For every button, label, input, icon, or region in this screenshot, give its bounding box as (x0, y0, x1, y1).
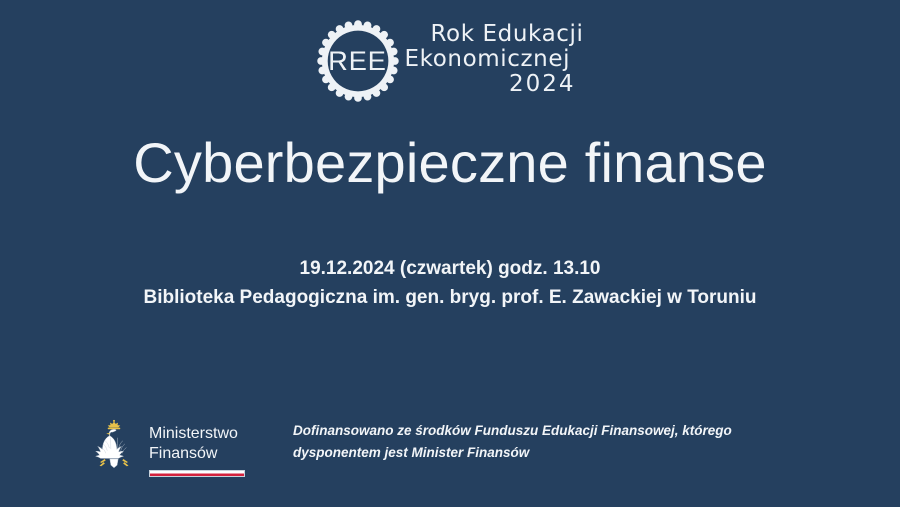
event-details: 19.12.2024 (czwartek) godz. 13.10 Biblio… (0, 255, 900, 312)
ministry-name-line-2: Finansów (149, 444, 245, 464)
event-datetime: 19.12.2024 (czwartek) godz. 13.10 (0, 255, 900, 284)
campaign-logo-inner: REE Rok Edukacji Ekonomicznej 2024 (317, 18, 584, 102)
slide-footer: Ministerstwo Finansów Dofinansowano ze ś… (88, 414, 860, 477)
campaign-logo-line-1: Rok Edukacji (405, 23, 584, 47)
gear-icon: REE (317, 20, 399, 102)
ministry-of-finance-logo: Ministerstwo Finansów (88, 414, 245, 477)
campaign-logo-text: Rok Edukacji Ekonomicznej 2024 (405, 18, 584, 97)
presentation-slide: REE Rok Edukacji Ekonomicznej 2024 Cyber… (0, 0, 900, 507)
ministry-of-finance-wordmark: Ministerstwo Finansów (149, 418, 245, 477)
funding-note-line-2: dysponentem jest Minister Finansów (293, 442, 732, 464)
funding-note-line-1: Dofinansowano ze środków Funduszu Edukac… (293, 420, 732, 442)
funding-note: Dofinansowano ze środków Funduszu Edukac… (293, 414, 732, 464)
campaign-logo: REE Rok Edukacji Ekonomicznej 2024 (0, 18, 900, 102)
polish-eagle-emblem-icon (88, 418, 140, 474)
campaign-logo-line-2: Ekonomicznej (405, 48, 584, 72)
slide-title: Cyberbezpieczne finanse (0, 130, 900, 195)
event-venue: Biblioteka Pedagogiczna im. gen. bryg. p… (0, 284, 900, 313)
polish-flag-bar-icon (149, 470, 245, 477)
campaign-logo-line-3: 2024 (405, 73, 584, 97)
ministry-name-line-1: Ministerstwo (149, 424, 245, 444)
